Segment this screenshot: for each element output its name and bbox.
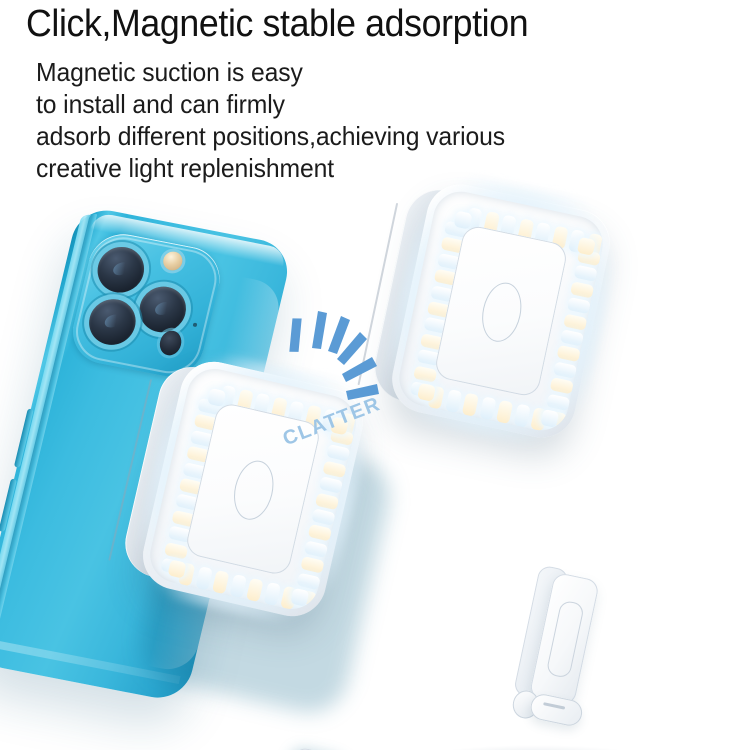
led-bead — [263, 582, 281, 606]
detached-light-shadow — [430, 745, 640, 750]
description-line-2: to install and can firmly — [36, 88, 692, 120]
description-line-4: creative light replenishment — [36, 152, 692, 184]
led-bead — [445, 389, 462, 413]
led-bead — [212, 570, 230, 594]
power-button[interactable] — [228, 457, 279, 524]
led-bead — [553, 361, 577, 378]
clip-foot — [528, 692, 584, 728]
led-bead — [513, 403, 530, 427]
led-bead — [246, 578, 264, 602]
fill-light-clip-detached[interactable] — [509, 564, 601, 724]
led-bead — [308, 524, 332, 542]
led-bead — [479, 396, 496, 420]
description-line-1: Magnetic suction is easy — [36, 56, 692, 88]
clip-grip-detail — [546, 600, 585, 679]
description-paragraph: Magnetic suction is easy to install and … — [36, 56, 692, 184]
led-bead — [311, 508, 335, 526]
power-button[interactable] — [477, 279, 527, 346]
led-bead — [546, 393, 570, 410]
led-bead — [229, 574, 247, 598]
led-bead — [322, 460, 346, 478]
led-bead — [413, 365, 437, 382]
clip-foot-slot — [543, 702, 565, 710]
led-bead — [195, 566, 213, 590]
led-bead — [297, 572, 321, 590]
led-bead — [300, 556, 324, 574]
led-bead — [556, 345, 580, 362]
led-bead — [462, 393, 479, 417]
led-bead — [560, 329, 584, 346]
led-bead — [567, 297, 591, 314]
led-bead — [550, 377, 574, 394]
led-bead — [574, 265, 598, 282]
led-bead — [315, 492, 339, 510]
led-bead — [164, 542, 188, 560]
product-scene: CLATTER — [0, 185, 750, 750]
phone-bezel-inner — [0, 213, 97, 656]
led-bead — [570, 281, 594, 298]
led-bead — [563, 313, 587, 330]
led-bead — [304, 540, 328, 558]
fill-light-detached[interactable] — [386, 178, 616, 444]
led-bead — [326, 444, 350, 462]
led-bead — [496, 400, 513, 424]
page-title: Click,Magnetic stable adsorption — [26, 2, 684, 46]
description-line-3: adsorb different positions,achieving var… — [36, 120, 692, 152]
led-bead — [319, 476, 343, 494]
product-marketing-image: Click,Magnetic stable adsorption Magneti… — [0, 0, 750, 750]
fill-light-seam — [358, 203, 399, 385]
